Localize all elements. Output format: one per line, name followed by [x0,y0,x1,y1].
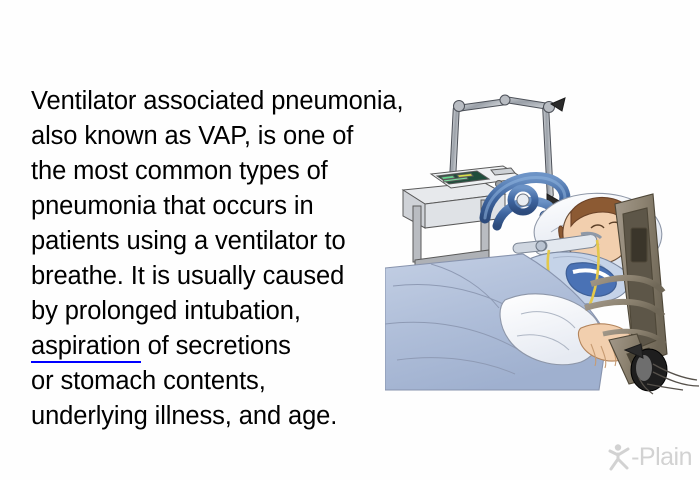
text-line-with-link: aspiration of secretions [31,329,403,364]
x-plain-logo: -Plain [607,440,692,474]
text-line: pneumonia that occurs in [31,189,403,224]
text-line: or stomach contents, [31,364,403,399]
slide-text-body: Ventilator associated pneumonia, also kn… [31,84,403,434]
text-line: underlying illness, and age. [31,399,403,434]
text-line: patients using a ventilator to [31,224,403,259]
text-after-link: of secretions [141,332,291,360]
text-line: breathe. It is usually caused [31,259,403,294]
text-line: also known as VAP, is one of [31,119,403,154]
slide-canvas: Ventilator associated pneumonia, also kn… [0,0,700,480]
text-line: Ventilator associated pneumonia, [31,84,403,119]
logo-wordmark: -Plain [631,445,692,470]
person-x-figure-icon [607,443,633,471]
glossary-link-aspiration[interactable]: aspiration [31,332,141,363]
text-line: by prolonged intubation, [31,294,403,329]
ventilator-patient-illustration [385,78,700,398]
text-line: the most common types of [31,154,403,189]
